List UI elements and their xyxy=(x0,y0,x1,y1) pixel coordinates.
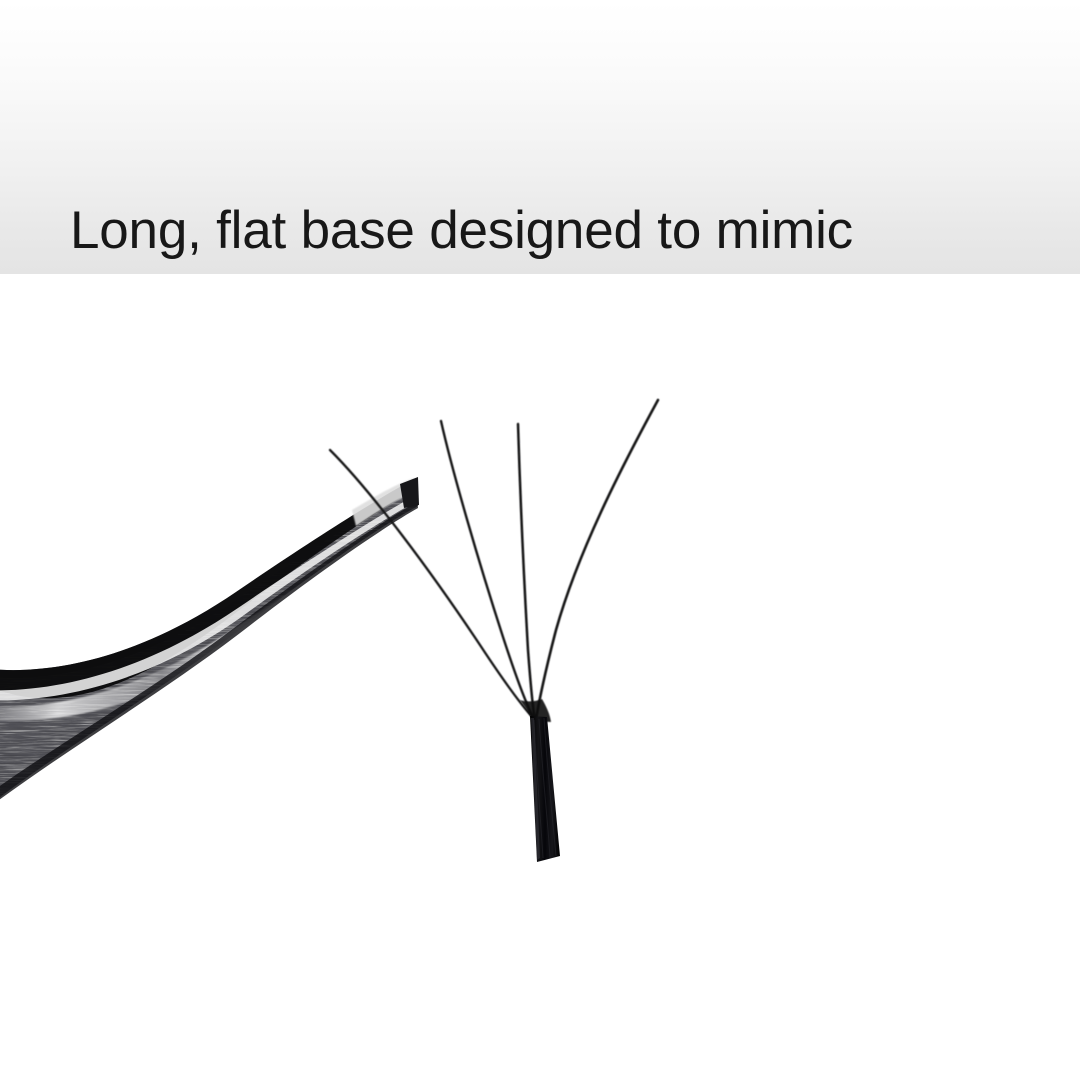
product-photo xyxy=(0,274,1080,1080)
lash-tweezer-illustration xyxy=(0,274,1080,1080)
caption-band: Long, flat base designed to mimic classi… xyxy=(0,0,1080,274)
product-feature-card: Long, flat base designed to mimic classi… xyxy=(0,0,1080,1080)
caption-line-1: Long, flat base designed to mimic xyxy=(70,200,1010,262)
